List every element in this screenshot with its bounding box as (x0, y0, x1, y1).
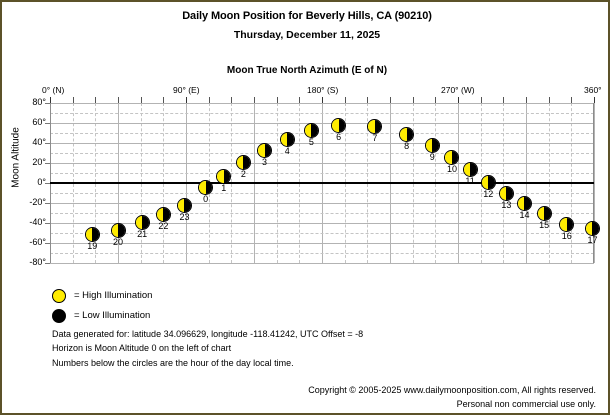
moon-phase-icon (177, 198, 192, 213)
moon-hour-label: 20 (110, 237, 126, 247)
moon-dark-half (224, 170, 231, 183)
moon-hour-label: 14 (516, 210, 532, 220)
moon-phase-icon (156, 207, 171, 222)
moon-hour-label: 12 (480, 189, 496, 199)
gridline-horizontal (50, 143, 594, 144)
moon-hour-label: 4 (279, 146, 295, 156)
gridline-horizontal (50, 173, 594, 174)
low-illumination-icon (52, 309, 66, 323)
gridline-horizontal (50, 243, 594, 244)
moon-phase-icon (216, 169, 231, 184)
moon-dark-half (452, 151, 459, 164)
moon-dark-half (265, 144, 272, 157)
moon-dark-half (544, 207, 551, 220)
gridline-horizontal (50, 113, 594, 114)
page-title: Daily Moon Position for Beverly Hills, C… (2, 10, 610, 22)
x-axis-tick-label: 0° (N) (42, 85, 64, 95)
moon-phase-icon (331, 118, 346, 133)
moon-hour-label: 13 (498, 200, 514, 210)
moon-phase-icon (559, 217, 574, 232)
moon-dark-half (432, 139, 439, 152)
moon-dark-half (287, 133, 294, 146)
note-hour-numbers: Numbers below the circles are the hour o… (52, 358, 294, 368)
moon-dark-half (339, 119, 346, 132)
moon-hour-label: 19 (84, 241, 100, 251)
moon-phase-icon (537, 206, 552, 221)
moon-dark-half (243, 156, 250, 169)
moon-hour-label: 22 (155, 221, 171, 231)
moon-hour-label: 0 (198, 194, 214, 204)
gridline-horizontal (50, 253, 594, 254)
moon-dark-half (163, 208, 170, 221)
moon-dark-half (206, 181, 213, 194)
x-axis-title: Moon True North Azimuth (E of N) (2, 65, 610, 76)
x-axis-tick-label: 180° (S) (307, 85, 338, 95)
moon-phase-icon (236, 155, 251, 170)
moon-hour-label: 1 (216, 183, 232, 193)
gridline-horizontal (50, 163, 594, 164)
moon-dark-half (407, 128, 414, 141)
moon-dark-half (488, 176, 495, 189)
legend-label-low: = Low Illumination (74, 310, 150, 321)
moon-phase-icon (517, 196, 532, 211)
moon-hour-label: 2 (235, 169, 251, 179)
footer-usage: Personal non commercial use only. (457, 399, 596, 409)
chart-header: Daily Moon Position for Beverly Hills, C… (2, 10, 610, 41)
moon-phase-icon (135, 215, 150, 230)
moon-phase-icon (399, 127, 414, 142)
note-data-generated: Data generated for: latitude 34.096629, … (52, 329, 363, 339)
moon-phase-icon (304, 123, 319, 138)
moon-dark-half (184, 199, 191, 212)
x-axis-tick-label: 90° (E) (173, 85, 200, 95)
moon-position-chart-page: Daily Moon Position for Beverly Hills, C… (0, 0, 610, 415)
moon-hour-label: 23 (176, 212, 192, 222)
y-axis-tick-label: -80° (2, 257, 46, 267)
moon-phase-icon (257, 143, 272, 158)
moon-phase-icon (444, 150, 459, 165)
moon-hour-label: 10 (444, 164, 460, 174)
moon-phase-icon (463, 162, 478, 177)
moon-hour-label: 15 (536, 220, 552, 230)
gridline-horizontal (50, 213, 594, 214)
moon-dark-half (524, 197, 531, 210)
note-horizon: Horizon is Moon Altitude 0 on the left o… (52, 343, 231, 353)
moon-phase-icon (111, 223, 126, 238)
moon-hour-label: 17 (584, 235, 600, 245)
moon-hour-label: 9 (424, 152, 440, 162)
moon-dark-half (375, 120, 382, 133)
x-axis-tick-label: 360° (584, 85, 602, 95)
moon-hour-label: 7 (367, 133, 383, 143)
moon-phase-icon (367, 119, 382, 134)
moon-hour-label: 6 (331, 132, 347, 142)
horizon-line (50, 182, 594, 184)
y-axis-tick-label: 20° (2, 157, 46, 167)
moon-phase-icon (85, 227, 100, 242)
x-axis-tick-label: 270° (W) (441, 85, 475, 95)
y-axis-tick-label: -60° (2, 237, 46, 247)
moon-phase-icon (499, 186, 514, 201)
gridline-horizontal (50, 133, 594, 134)
gridline-horizontal (50, 263, 594, 264)
moon-hour-label: 16 (559, 231, 575, 241)
y-axis-tick-label: 60° (2, 117, 46, 127)
y-axis-tick-label: -20° (2, 197, 46, 207)
high-illumination-icon (52, 289, 66, 303)
gridline-horizontal (50, 233, 594, 234)
moon-dark-half (506, 187, 513, 200)
y-axis-tick-label: 0° (2, 177, 46, 187)
gridline-horizontal (50, 223, 594, 224)
moon-dark-half (470, 163, 477, 176)
gridline-horizontal (50, 153, 594, 154)
moon-hour-label: 5 (303, 137, 319, 147)
moon-dark-half (592, 222, 599, 235)
moon-phase-icon (425, 138, 440, 153)
y-axis-tick-label: 80° (2, 97, 46, 107)
moon-dark-half (311, 124, 318, 137)
footer-copyright: Copyright © 2005-2025 www.dailymoonposit… (308, 385, 596, 395)
moon-hour-label: 11 (462, 176, 478, 186)
y-axis-tick-label: -40° (2, 217, 46, 227)
gridline-horizontal (50, 103, 594, 104)
moon-hour-label: 21 (134, 229, 150, 239)
y-axis-tick-label: 40° (2, 137, 46, 147)
moon-dark-half (567, 218, 574, 231)
legend-label-high: = High Illumination (74, 290, 152, 301)
moon-hour-label: 3 (257, 157, 273, 167)
moon-dark-half (92, 228, 99, 241)
moon-phase-icon (198, 180, 213, 195)
moon-phase-icon (280, 132, 295, 147)
moon-dark-half (118, 224, 125, 237)
moon-phase-icon (481, 175, 496, 190)
moon-dark-half (142, 216, 149, 229)
chart-date: Thursday, December 11, 2025 (2, 29, 610, 41)
moon-phase-icon (585, 221, 600, 236)
plot-area: 19202122230123456789101112131415161718 (50, 103, 594, 263)
gridline-horizontal (50, 123, 594, 124)
moon-hour-label: 8 (399, 141, 415, 151)
